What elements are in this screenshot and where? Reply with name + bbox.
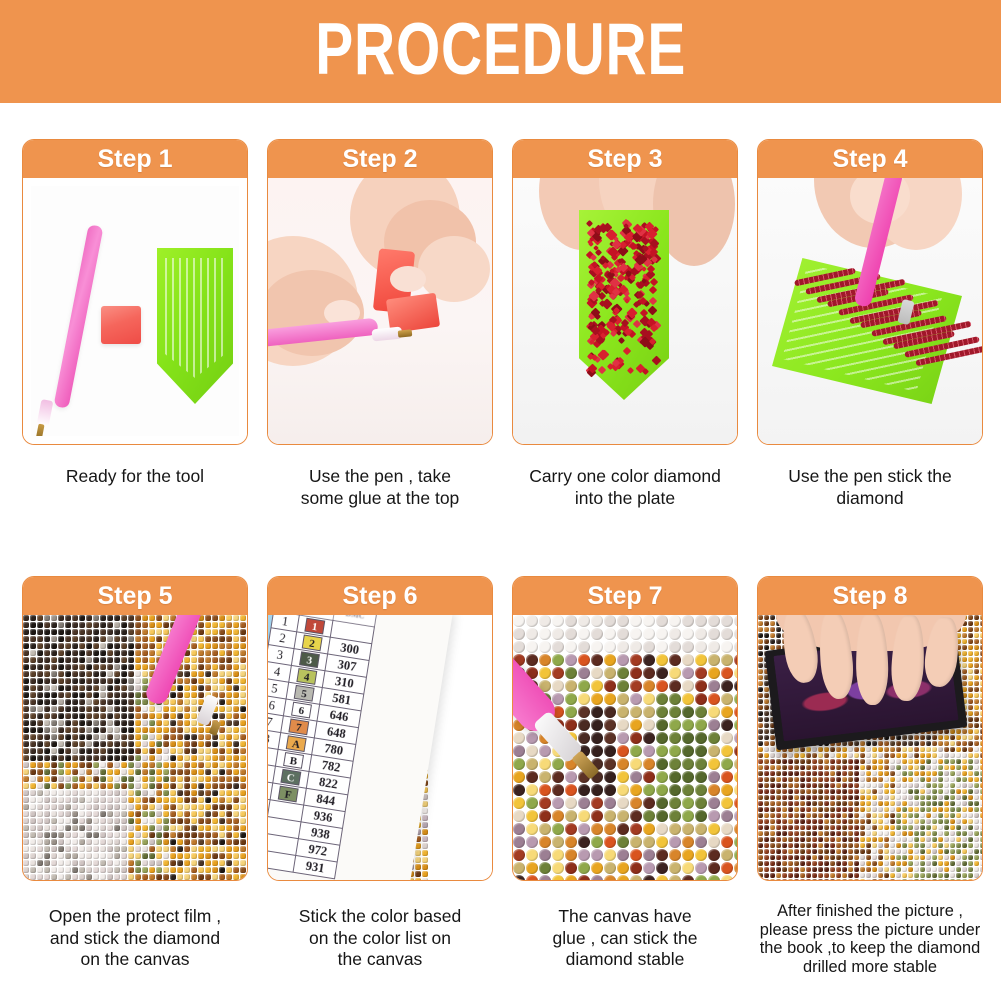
fingernail (390, 266, 426, 292)
step-caption-7: The canvas have glue , can stick the dia… (503, 906, 747, 971)
step-card-8[interactable]: Step 8 (757, 576, 983, 881)
step-header-5: Step 5 (23, 577, 247, 615)
step-header-1: Step 1 (23, 140, 247, 178)
step-header-label: Step 3 (587, 147, 662, 172)
step-image-1 (23, 178, 247, 444)
step-header-4: Step 4 (758, 140, 982, 178)
step-header-label: Step 6 (342, 584, 417, 609)
step-image-2 (268, 178, 492, 444)
step-card-6[interactable]: Step 6 SymbolDMC112230033307443105558166… (267, 576, 493, 881)
step-header-label: Step 2 (342, 147, 417, 172)
red-diamonds (587, 220, 661, 380)
step-image-3 (513, 178, 737, 444)
step-header-label: Step 4 (832, 147, 907, 172)
right-hand-thumb (418, 236, 490, 302)
step-image-6: SymbolDMC1122300333074431055581666467764… (268, 615, 492, 880)
step-image-8 (758, 615, 982, 880)
step-header-label: Step 8 (832, 584, 907, 609)
step-image-5 (23, 615, 247, 880)
step-image-4 (758, 178, 982, 444)
step-caption-3: Carry one color diamond into the plate (503, 466, 747, 509)
sunflower-canvas-mosaic (23, 615, 247, 880)
step-card-2[interactable]: Step 2 (267, 139, 493, 445)
step-card-1[interactable]: Step 1 (22, 139, 248, 445)
step-header-2: Step 2 (268, 140, 492, 178)
step-header-7: Step 7 (513, 577, 737, 615)
step-header-3: Step 3 (513, 140, 737, 178)
step-caption-4: Use the pen stick the diamond (748, 466, 992, 509)
step-caption-1: Ready for the tool (13, 466, 257, 488)
finger (855, 615, 889, 705)
page-banner: PROCEDURE (0, 0, 1001, 103)
step-header-label: Step 1 (97, 147, 172, 172)
procedure-infographic: PROCEDURE Step 1 (0, 0, 1001, 1001)
step-card-4[interactable]: Step 4 (757, 139, 983, 445)
step-card-7[interactable]: Step 7 (512, 576, 738, 881)
step-caption-8: After finished the picture , please pres… (748, 902, 992, 977)
tray-grooves (165, 258, 225, 378)
step-header-6: Step 6 (268, 577, 492, 615)
step-caption-5: Open the protect film , and stick the di… (13, 906, 257, 971)
step-header-label: Step 7 (587, 584, 662, 609)
step-caption-2: Use the pen , take some glue at the top (258, 466, 502, 509)
pen-nib-icon (398, 329, 413, 337)
glue-clay-icon (101, 306, 141, 344)
step-card-5[interactable]: Step 5 (22, 576, 248, 881)
step-header-8: Step 8 (758, 577, 982, 615)
step-header-label: Step 5 (97, 584, 172, 609)
diamond-bead-closeup (513, 615, 737, 880)
step-image-7 (513, 615, 737, 880)
page-title: PROCEDURE (315, 13, 686, 86)
step-card-3[interactable]: Step 3 (512, 139, 738, 445)
step-caption-6: Stick the color based on the color list … (258, 906, 502, 971)
